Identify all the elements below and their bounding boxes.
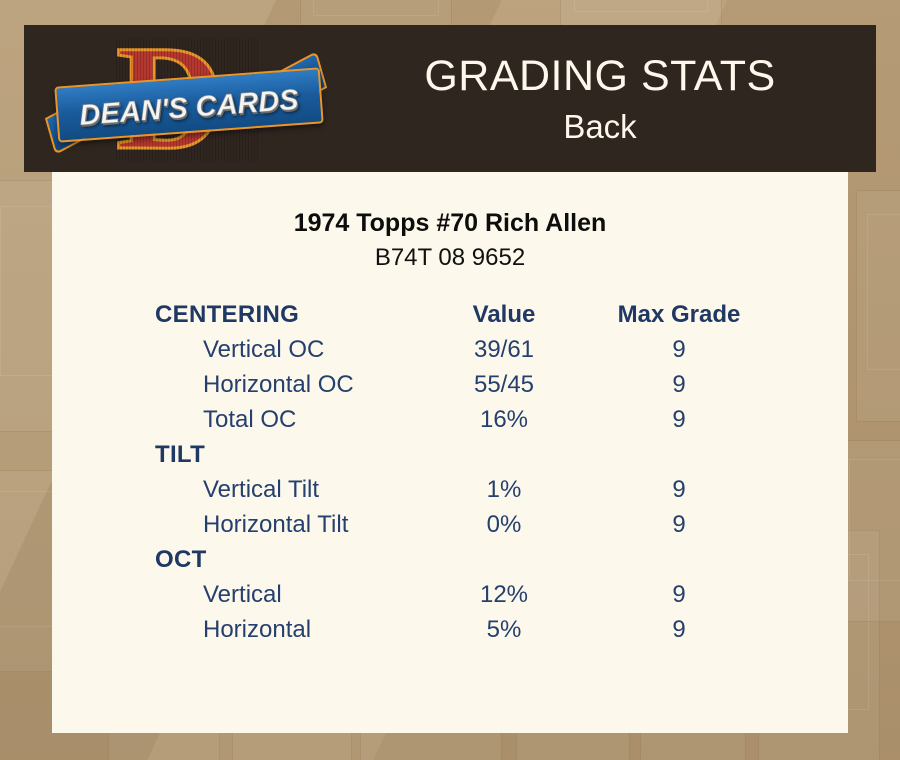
page-subtitle: Back xyxy=(563,107,636,147)
header-bar: D DEAN'S CARDS GRADING STATS Back xyxy=(24,25,876,172)
stats-row: Vertical12%9 xyxy=(52,581,848,616)
stats-row-value: Value xyxy=(418,301,590,329)
stats-row-value: 16% xyxy=(418,406,590,434)
stats-row-value: 0% xyxy=(418,511,590,539)
card-code: B74T 08 9652 xyxy=(52,243,848,273)
stats-row-grade: 9 xyxy=(590,476,768,504)
stats-section-header: TILT xyxy=(52,441,848,476)
stats-row-grade: Max Grade xyxy=(590,301,768,329)
stats-row-label: TILT xyxy=(52,441,418,469)
stats-row-grade: 9 xyxy=(590,406,768,434)
stats-row-grade: 9 xyxy=(590,336,768,364)
stats-row-value: 1% xyxy=(418,476,590,504)
page-title: GRADING STATS xyxy=(424,51,775,101)
stats-row-grade: 9 xyxy=(590,616,768,644)
stats-section-header: CENTERINGValueMax Grade xyxy=(52,301,848,336)
deans-cards-logo[interactable]: D DEAN'S CARDS xyxy=(54,33,322,165)
stats-row: Vertical OC39/619 xyxy=(52,336,848,371)
grading-stats-page: D DEAN'S CARDS GRADING STATS Back 1974 T… xyxy=(0,0,900,760)
card-title: 1974 Topps #70 Rich Allen xyxy=(52,208,848,238)
stats-row-label: Horizontal Tilt xyxy=(52,511,418,539)
stats-row-grade: 9 xyxy=(590,371,768,399)
stats-row: Horizontal Tilt0%9 xyxy=(52,511,848,546)
content-panel: 1974 Topps #70 Rich Allen B74T 08 9652 C… xyxy=(52,172,848,733)
grading-stats-table: CENTERINGValueMax GradeVertical OC39/619… xyxy=(52,301,848,651)
stats-row-label: Horizontal xyxy=(52,616,418,644)
stats-row-label: Vertical OC xyxy=(52,336,418,364)
header-title-group: GRADING STATS Back xyxy=(324,25,876,172)
stats-row: Total OC16%9 xyxy=(52,406,848,441)
stats-row-grade: 9 xyxy=(590,581,768,609)
stats-row-label: Horizontal OC xyxy=(52,371,418,399)
stats-row: Horizontal OC55/459 xyxy=(52,371,848,406)
stats-row-value: 39/61 xyxy=(418,336,590,364)
stats-row: Horizontal5%9 xyxy=(52,616,848,651)
stats-row-grade: 9 xyxy=(590,511,768,539)
stats-section-header: OCT xyxy=(52,546,848,581)
stats-row-value: 12% xyxy=(418,581,590,609)
stats-row-value: 55/45 xyxy=(418,371,590,399)
stats-row-label: CENTERING xyxy=(52,301,418,329)
stats-row-label: Vertical xyxy=(52,581,418,609)
background-card-image xyxy=(856,190,900,422)
stats-row-label: Vertical Tilt xyxy=(52,476,418,504)
stats-row-label: OCT xyxy=(52,546,418,574)
stats-row-label: Total OC xyxy=(52,406,418,434)
stats-row: Vertical Tilt1%9 xyxy=(52,476,848,511)
stats-row-value: 5% xyxy=(418,616,590,644)
